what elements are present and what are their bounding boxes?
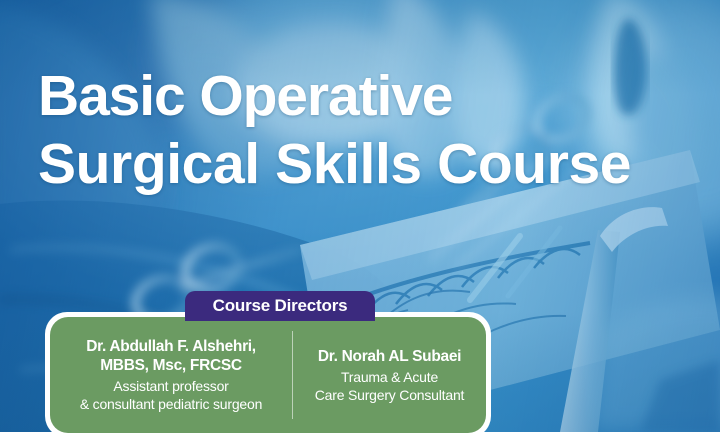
director-1-sub-line-1: Assistant professor (56, 377, 286, 395)
title-line-2: Surgical Skills Course (38, 130, 698, 198)
course-directors-inner: Dr. Abdullah F. Alshehri, MBBS, Msc, FRC… (50, 317, 486, 433)
director-1-name-line-2: MBBS, Msc, FRCSC (56, 356, 286, 375)
director-1-name-line-1: Dr. Abdullah F. Alshehri, (56, 337, 286, 356)
course-poster: Basic Operative Surgical Skills Course C… (0, 0, 720, 445)
director-1-sub-line-2: & consultant pediatric surgeon (56, 395, 286, 413)
director-card-1: Dr. Abdullah F. Alshehri, MBBS, Msc, FRC… (50, 337, 292, 413)
director-card-2: Dr. Norah AL Subaei Trauma & Acute Care … (293, 347, 486, 404)
director-2-name-line-1: Dr. Norah AL Subaei (299, 347, 480, 366)
page-title: Basic Operative Surgical Skills Course (38, 62, 698, 198)
director-2-sub-line-1: Trauma & Acute (299, 368, 480, 386)
title-line-1: Basic Operative (38, 62, 698, 130)
course-directors-panel: Dr. Abdullah F. Alshehri, MBBS, Msc, FRC… (45, 312, 491, 438)
director-2-sub-line-2: Care Surgery Consultant (299, 386, 480, 404)
course-directors-badge: Course Directors (185, 291, 375, 321)
